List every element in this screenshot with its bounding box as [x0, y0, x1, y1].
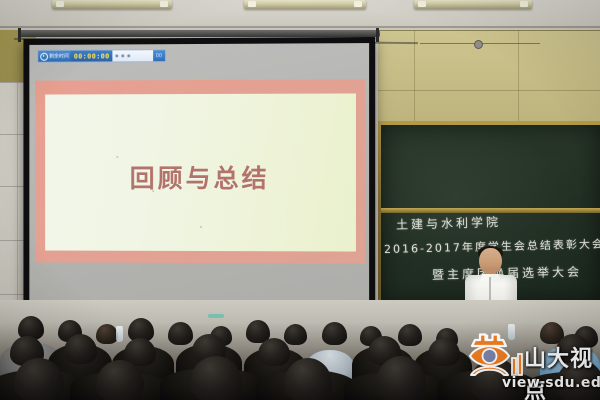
- chalk-text-line-1: 土建与水利学院: [396, 213, 501, 233]
- timer-buttons[interactable]: [113, 54, 153, 57]
- ceiling-lamp-3: [414, 0, 532, 9]
- timer-play-icon[interactable]: [115, 54, 118, 57]
- presentation-timer-toolbar[interactable]: 剩余时间 00:00:00 00: [37, 49, 166, 63]
- audience-head: [96, 324, 118, 344]
- lecture-hall-photo: 土建与水利学院 2016-2017年度学生会总结表彰大会 暨主席团换届选举大会 …: [0, 0, 600, 400]
- wall-knob: [474, 40, 483, 49]
- ceiling-lamp-1: [52, 0, 172, 9]
- timer-counter: 00: [153, 50, 165, 61]
- audience-head: [322, 322, 347, 345]
- timer-pause-icon[interactable]: [121, 54, 124, 57]
- projection-screen[interactable]: 剩余时间 00:00:00 00 回顾与总结: [23, 37, 375, 311]
- hair-tie: [208, 314, 224, 318]
- audience-head: [284, 324, 307, 345]
- screen-surface: 剩余时间 00:00:00 00 回顾与总结: [29, 43, 369, 304]
- water-bottle: [116, 326, 123, 342]
- watermark-url: view.sdu.edu.cn: [502, 375, 600, 391]
- audience-head: [398, 324, 422, 346]
- audience-head: [258, 338, 290, 366]
- audience-head: [64, 334, 97, 364]
- timer-value: 00:00:00: [71, 50, 113, 61]
- screen-roller-housing: [20, 30, 380, 37]
- slide-frame: 回顾与总结: [35, 79, 365, 263]
- timer-label-group: 剩余时间: [38, 51, 71, 62]
- eye-gear-icon: [466, 333, 524, 381]
- clock-icon: [40, 52, 48, 60]
- watermark-site-name: 山大视点: [524, 341, 596, 400]
- ceiling-seam: [0, 26, 600, 28]
- screen-bracket-right: [376, 28, 379, 42]
- blackboard-divider: [381, 208, 600, 213]
- timer-reset-icon[interactable]: [127, 54, 130, 57]
- slide-content: 回顾与总结: [45, 93, 356, 251]
- audience-head: [428, 338, 460, 366]
- audience-head: [168, 322, 193, 345]
- watermark: 山大视点 view.sdu.edu.cn: [466, 333, 596, 395]
- slide-title: 回顾与总结: [130, 158, 270, 194]
- timer-label: 剩余时间: [49, 53, 69, 60]
- ceiling-lamp-2: [244, 0, 366, 9]
